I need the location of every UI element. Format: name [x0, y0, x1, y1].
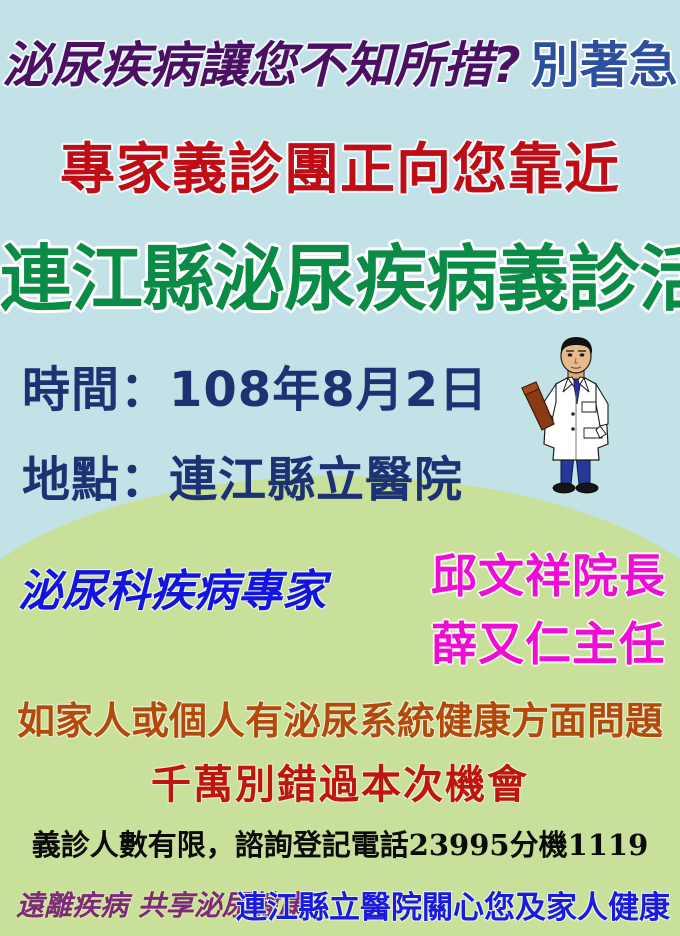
headline-primary-question: 泌尿疾病讓您不知所措? — [2, 37, 520, 94]
specialist-name-2: 薛又仁主任 — [431, 608, 666, 674]
specialist-name-1: 邱文祥院長 — [431, 540, 666, 606]
headline-primary-reassurance: 別著急 — [531, 37, 678, 94]
footer-organization: 連江縣立醫院關心您及家人健康 — [236, 882, 670, 927]
cta-line-1: 如家人或個人有泌尿系統健康方面問題 — [0, 690, 680, 745]
headline-primary: 泌尿疾病讓您不知所措?別著急 — [0, 26, 680, 97]
cta-line-2: 千萬別錯過本次機會 — [0, 752, 680, 810]
event-place: 地點：連江縣立醫院 — [22, 440, 463, 510]
poster-canvas: 泌尿疾病讓您不知所措?別著急 專家義診團正向您靠近 連江縣泌尿疾病義診活動 時間… — [0, 0, 680, 936]
event-title: 連江縣泌尿疾病義診活動 — [0, 220, 680, 325]
event-time: 時間：108年8月2日 — [22, 350, 488, 420]
specialist-section-title: 泌尿科疾病專家 — [18, 555, 326, 619]
headline-secondary: 專家義診團正向您靠近 — [0, 124, 680, 204]
contact-information: 義診人數有限，諮詢登記電話23995分機1119 — [0, 822, 680, 864]
doctor-figure-illustration — [520, 332, 632, 504]
